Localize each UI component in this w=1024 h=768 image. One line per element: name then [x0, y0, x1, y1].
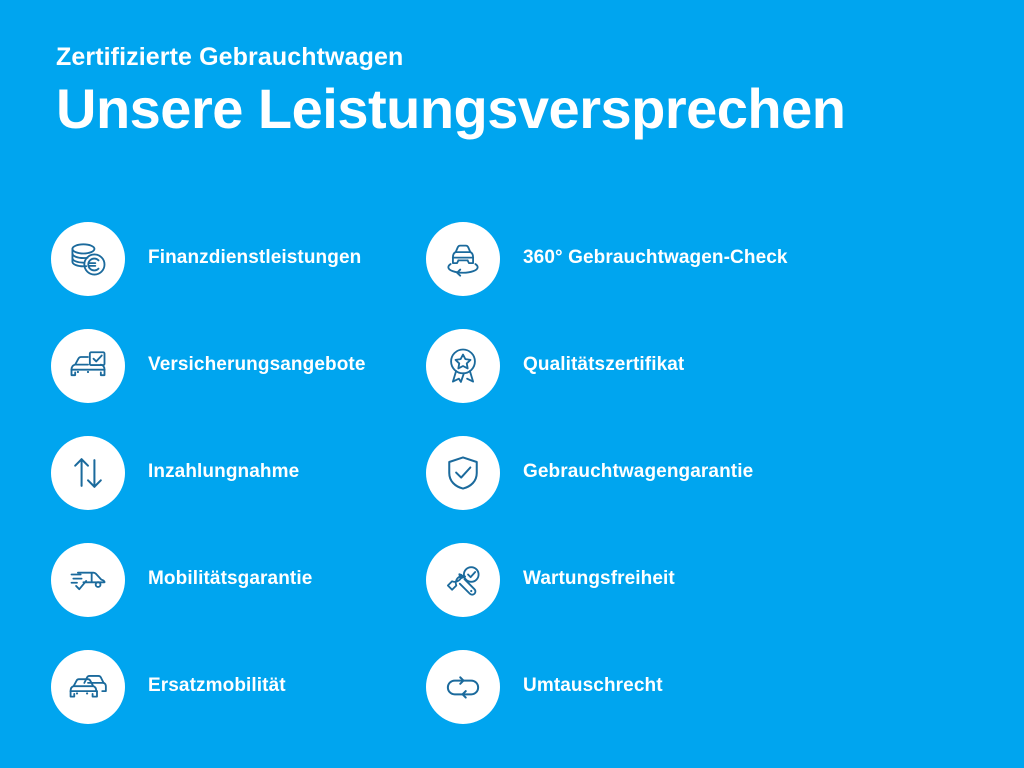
- benefit-item-360-check[interactable]: 360° Gebrauchtwagen-Check: [426, 205, 846, 312]
- benefit-item-finanzdienstleistungen[interactable]: Finanzdienstleistungen: [51, 205, 431, 312]
- slide-header: Zertifizierte Gebrauchtwagen Unsere Leis…: [56, 44, 956, 140]
- up-down-arrows-icon: [66, 451, 110, 495]
- benefits-left-column: Finanzdienstleistungen: [51, 205, 431, 740]
- benefit-icon-badge: [426, 650, 500, 724]
- two-cars-icon: [66, 665, 110, 709]
- benefit-icon-badge: [51, 543, 125, 617]
- benefit-icon-badge: [51, 436, 125, 510]
- benefit-icon-badge: [51, 222, 125, 296]
- benefit-icon-badge: [426, 436, 500, 510]
- speeding-car-check-icon: [66, 558, 110, 602]
- benefit-label: Ersatzmobilität: [148, 675, 286, 698]
- benefit-item-inzahlungnahme[interactable]: Inzahlungnahme: [51, 419, 431, 526]
- benefit-label: Versicherungsangebote: [148, 354, 366, 377]
- benefit-label: Mobilitätsgarantie: [148, 568, 312, 591]
- benefit-label: Finanzdienstleistungen: [148, 247, 361, 270]
- benefit-icon-badge: [426, 329, 500, 403]
- shield-check-icon: [441, 451, 485, 495]
- wrench-check-icon: [441, 558, 485, 602]
- benefit-item-mobilitaetsgarantie[interactable]: Mobilitätsgarantie: [51, 526, 431, 633]
- eyebrow-text: Zertifizierte Gebrauchtwagen: [56, 44, 956, 72]
- benefit-icon-badge: [51, 650, 125, 724]
- benefit-icon-badge: [426, 543, 500, 617]
- car-front-rotate-icon: [441, 237, 485, 281]
- benefit-item-wartungsfreiheit[interactable]: Wartungsfreiheit: [426, 526, 846, 633]
- car-checkbox-icon: [66, 344, 110, 388]
- benefit-label: Gebrauchtwagengarantie: [523, 461, 753, 484]
- benefit-label: Inzahlungnahme: [148, 461, 299, 484]
- benefit-item-ersatzmobilitaet[interactable]: Ersatzmobilität: [51, 633, 431, 740]
- exchange-arrows-icon: [441, 665, 485, 709]
- award-rosette-star-icon: [441, 344, 485, 388]
- benefit-label: Wartungsfreiheit: [523, 568, 675, 591]
- benefit-item-qualitaetszertifikat[interactable]: Qualitätszertifikat: [426, 312, 846, 419]
- benefit-item-gebrauchtwagengarantie[interactable]: Gebrauchtwagengarantie: [426, 419, 846, 526]
- promise-slide: Zertifizierte Gebrauchtwagen Unsere Leis…: [0, 0, 1024, 768]
- benefit-label: Umtauschrecht: [523, 675, 663, 698]
- page-title: Unsere Leistungsversprechen: [56, 78, 956, 141]
- benefit-icon-badge: [426, 222, 500, 296]
- coins-euro-icon: [66, 237, 110, 281]
- benefit-label: Qualitätszertifikat: [523, 354, 684, 377]
- benefit-icon-badge: [51, 329, 125, 403]
- benefit-item-umtauschrecht[interactable]: Umtauschrecht: [426, 633, 846, 740]
- benefit-label: 360° Gebrauchtwagen-Check: [523, 247, 788, 270]
- benefits-right-column: 360° Gebrauchtwagen-Check Qualitätszerti…: [426, 205, 846, 740]
- benefit-item-versicherungsangebote[interactable]: Versicherungsangebote: [51, 312, 431, 419]
